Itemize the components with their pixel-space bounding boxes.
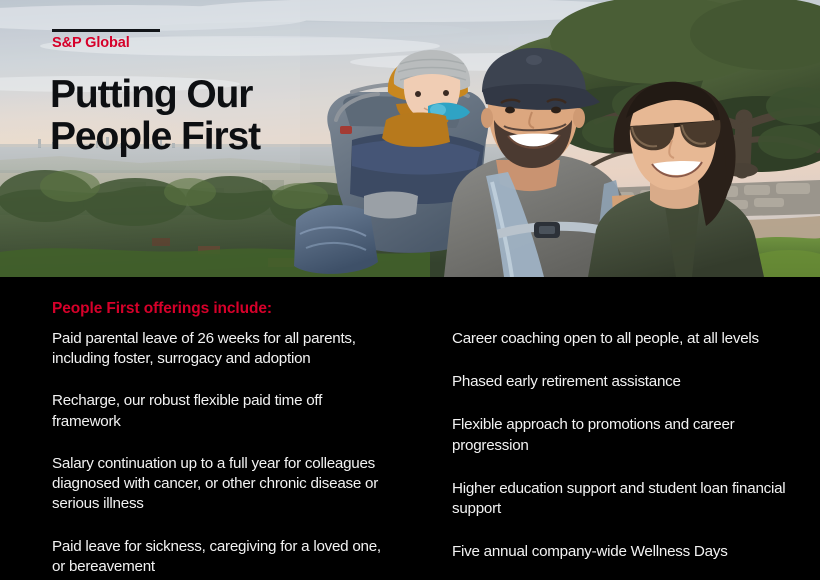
page-title-line-1: Putting Our (50, 73, 252, 116)
offering-item: Recharge, our robust flexible paid time … (52, 391, 390, 431)
offering-item: Career coaching open to all people, at a… (452, 329, 800, 349)
hero-photo: S&P Global Putting Our People First (0, 0, 820, 277)
brand-rule (52, 29, 160, 32)
offering-item: Paid leave for sickness, caregiving for … (52, 537, 390, 577)
page-title: Putting Our People First (50, 74, 260, 158)
offering-item: Salary continuation up to a full year fo… (52, 454, 390, 515)
page-title-line-2: People First (50, 116, 260, 158)
brand-lockup: S&P Global (52, 29, 160, 51)
offering-item: Paid parental leave of 26 weeks for all … (52, 329, 390, 369)
offering-item: Flexible approach to promotions and care… (452, 415, 800, 455)
offerings-left-column: Paid parental leave of 26 weeks for all … (0, 329, 400, 577)
offering-item: Five annual company-wide Wellness Days (452, 542, 800, 562)
offerings-panel: People First offerings include: Paid par… (0, 277, 820, 580)
brand-name: S&P Global (52, 36, 160, 51)
offerings-columns: Paid parental leave of 26 weeks for all … (0, 329, 820, 577)
offering-item: Phased early retirement assistance (452, 372, 800, 392)
poster: S&P Global Putting Our People First Peop… (0, 0, 820, 580)
offerings-right-column: Career coaching open to all people, at a… (400, 329, 820, 577)
offering-item: Higher education support and student loa… (452, 479, 800, 519)
offerings-heading: People First offerings include: (52, 300, 272, 318)
